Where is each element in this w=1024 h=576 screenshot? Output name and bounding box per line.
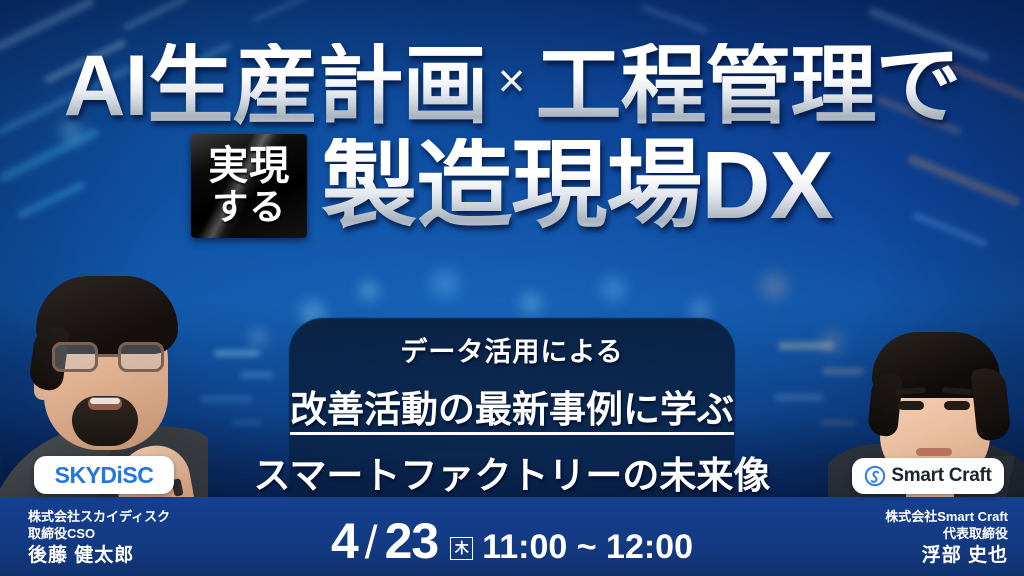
smartcraft-logo-text: Smart Craft [891, 465, 991, 487]
badge-line-2: する [212, 189, 286, 226]
event-day-of-week: 木 [450, 537, 473, 560]
smartcraft-s-icon [864, 465, 886, 487]
speaker-right-name: 浮部 史也 [885, 544, 1008, 568]
headline-line-1: AI生産計画 × 工程管理で [0, 38, 1024, 134]
speaker-info-right: 株式会社Smart Craft 代表取締役 浮部 史也 [885, 509, 1008, 568]
badge-line-1: 実現 [208, 146, 290, 187]
subtitle-line-2: 改善活動の最新事例に学ぶ [0, 379, 1024, 433]
event-day: 23 [385, 516, 439, 566]
date-separator: / [365, 519, 378, 565]
event-time: 11:00 ~ 12:00 [482, 530, 693, 564]
speaker-left-title: 取締役CSO [28, 526, 170, 543]
speaker-left-company: 株式会社スカイディスク [28, 509, 170, 526]
event-month: 4 [331, 516, 358, 566]
headline-part-2: 工程管理で [536, 43, 961, 129]
speaker-left-name: 後藤 健太郎 [28, 544, 170, 568]
headline-main: 製造現場DX [321, 138, 832, 234]
webinar-banner: AI生産計画 × 工程管理で 実現 する 製造現場DX データ活用による 改善活… [0, 0, 1024, 576]
headline: AI生産計画 × 工程管理で 実現 する 製造現場DX [0, 38, 1024, 240]
skydisc-logo: SKYDiSC [34, 456, 174, 494]
subtitle-line-1: データ活用による [0, 330, 1024, 369]
jitsugen-suru-badge: 実現 する [191, 134, 307, 238]
headline-part-1: AI生産計画 [63, 43, 487, 129]
speaker-info-left: 株式会社スカイディスク 取締役CSO 後藤 健太郎 [28, 509, 170, 568]
cross-icon: × [497, 58, 525, 106]
smartcraft-logo: Smart Craft [852, 458, 1004, 494]
skydisc-logo-text: SKYDiSC [55, 462, 154, 489]
speaker-right-title: 代表取締役 [885, 526, 1008, 543]
headline-line-2: 実現 する 製造現場DX [0, 132, 1024, 240]
event-datetime: 4 / 23 木 11:00 ~ 12:00 [331, 516, 693, 566]
speaker-right-company: 株式会社Smart Craft [885, 509, 1008, 526]
